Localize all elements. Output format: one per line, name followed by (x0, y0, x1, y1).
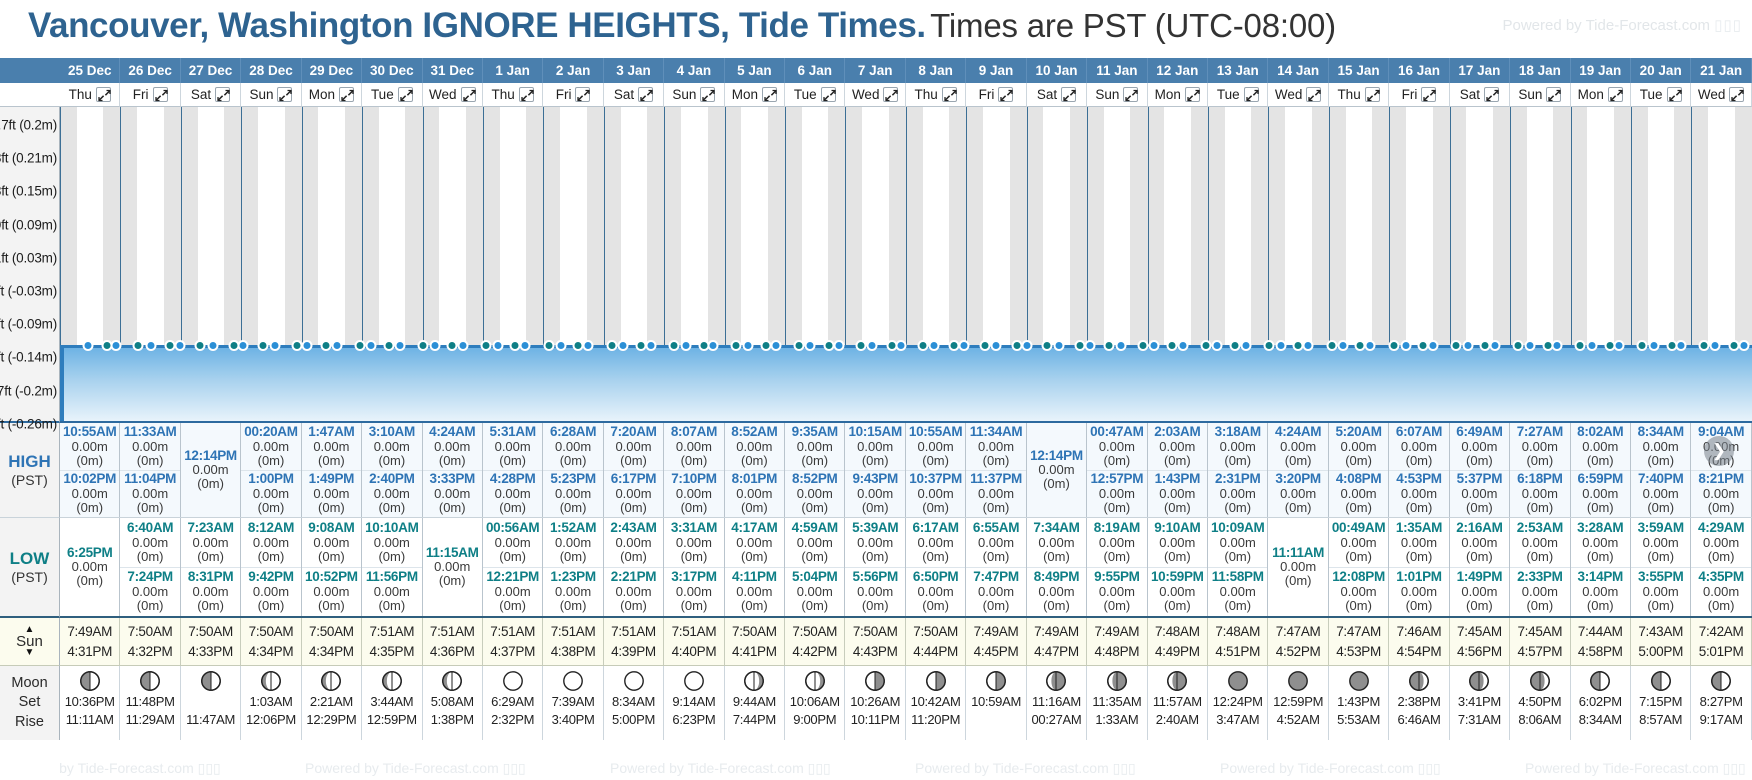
tide-event: 10:59PM0.00m(0m) (1148, 567, 1207, 617)
date-header-cell[interactable]: 12 Jan (1148, 58, 1208, 83)
expand-icon[interactable] (762, 87, 777, 102)
tide-height: 0.00m (1099, 440, 1135, 454)
tide-event: 5:31AM0.00m(0m) (483, 423, 542, 470)
low-tide-cell: 3:28AM0.00m(0m)3:14PM0.00m(0m) (1571, 518, 1631, 616)
tide-height-alt: (0m) (318, 501, 345, 515)
tide-event: 3:31AM0.00m(0m) (664, 518, 723, 567)
moonrise-time: 4:52AM (1277, 711, 1320, 729)
low-tide-cell: 1:52AM0.00m(0m)1:23PM0.00m(0m) (543, 518, 603, 616)
high-tide-marker (929, 340, 940, 351)
tide-height: 0.00m (1401, 536, 1437, 550)
low-tide-cell: 9:08AM0.00m(0m)10:52PM0.00m(0m) (302, 518, 362, 616)
chart-y-axis: 0.7ft (0.2m)0.68ft (0.21m)0.48ft (0.15m)… (0, 107, 60, 423)
tide-event: 4:24AM0.00m(0m) (423, 423, 482, 470)
tide-event: 9:43PM0.00m(0m) (845, 470, 904, 518)
expand-icon[interactable] (1608, 87, 1623, 102)
date-header-cell[interactable]: 1 Jan (483, 58, 543, 83)
date-header-cell[interactable]: 28 Dec (241, 58, 301, 83)
high-tide-marker (1338, 340, 1349, 351)
high-tide-marker (207, 340, 218, 351)
weekday-header-cell: Wed (845, 83, 905, 107)
moon-phase-icon (260, 670, 282, 692)
tide-time: 8:52PM (792, 472, 837, 487)
sun-cell: 7:50AM4:33PM (181, 618, 241, 665)
tide-time: 8:01PM (732, 472, 777, 487)
moon-phase-icon (200, 670, 222, 692)
sun-cell: 7:43AM5:00PM (1631, 618, 1691, 665)
row-label-column: 0.7ft (0.2m)0.68ft (0.21m)0.48ft (0.15m)… (0, 58, 60, 780)
high-tide-marker (991, 340, 1002, 351)
high-tide-cell: 11:33AM0.00m(0m)11:04PM0.00m(0m) (120, 423, 180, 517)
low-tide-marker (573, 340, 584, 351)
sun-cell: 7:42AM5:01PM (1691, 618, 1751, 665)
tide-time: 6:17AM (913, 521, 959, 536)
date-header-cell[interactable]: 15 Jan (1329, 58, 1389, 83)
low-tide-cell: 7:23AM0.00m(0m)8:31PM0.00m(0m) (181, 518, 241, 616)
date-header-cell[interactable]: 10 Jan (1027, 58, 1087, 83)
date-header-cell[interactable]: 13 Jan (1208, 58, 1268, 83)
sunset-time: 4:42PM (792, 642, 837, 662)
tide-height-alt: (0m) (137, 599, 164, 613)
tide-height-alt: (0m) (258, 550, 285, 564)
low-tide-cell: 2:53AM0.00m(0m)2:33PM0.00m(0m) (1510, 518, 1570, 616)
expand-icon[interactable] (883, 87, 898, 102)
moonrise-time: 1:33AM (1095, 711, 1138, 729)
tide-time: 9:10AM (1154, 521, 1200, 536)
high-tide-cell: 9:35AM0.00m(0m)8:52PM0.00m(0m) (785, 423, 845, 517)
tide-event: 1:47AM0.00m(0m) (302, 423, 361, 470)
low-tide-cell: 10:09AM0.00m(0m)11:58PM0.00m(0m) (1208, 518, 1268, 616)
tide-height-alt: (0m) (1526, 454, 1553, 468)
high-tide-marker (1614, 340, 1625, 351)
date-header-cell[interactable]: 31 Dec (423, 58, 483, 83)
tide-height: 0.00m (978, 585, 1014, 599)
tide-height-alt: (0m) (1345, 550, 1372, 564)
row-label-high-tz: (PST) (11, 472, 48, 488)
tide-height-alt: (0m) (1104, 454, 1131, 468)
moonrise-time: 3:40PM (552, 711, 595, 729)
tide-height: 0.00m (495, 487, 531, 501)
tide-time: 00:20AM (244, 425, 297, 440)
tide-time: 4:24AM (429, 425, 475, 440)
expand-icon[interactable] (1667, 87, 1682, 102)
low-tide-marker (1513, 340, 1524, 351)
low-tide-cell: 4:17AM0.00m(0m)4:11PM0.00m(0m) (725, 518, 785, 616)
weekday-label: Thu (1337, 87, 1360, 102)
tide-height: 0.00m (1522, 487, 1558, 501)
low-tide-marker (418, 340, 429, 351)
tide-time: 10:55AM (63, 425, 116, 440)
moon-phase-icon (804, 670, 826, 692)
tide-height-alt: (0m) (1164, 599, 1191, 613)
tide-event: 10:52PM0.00m(0m) (302, 567, 361, 617)
date-header-cell[interactable]: 5 Jan (725, 58, 785, 83)
low-tide-marker (1418, 340, 1429, 351)
tide-event: 9:08AM0.00m(0m) (302, 518, 361, 567)
moon-phase-icon (1045, 670, 1067, 692)
date-header-cell[interactable]: 30 Dec (362, 58, 422, 83)
tide-height-alt: (0m) (499, 501, 526, 515)
sunrise-time: 7:45AM (1457, 622, 1502, 642)
tide-height: 0.00m (132, 536, 168, 550)
tide-event: 6:17PM0.00m(0m) (604, 470, 663, 518)
low-tide-cell: 5:39AM0.00m(0m)5:56PM0.00m(0m) (845, 518, 905, 616)
high-tide-marker (1085, 340, 1096, 351)
tide-height-alt: (0m) (137, 454, 164, 468)
tide-time: 7:23AM (187, 521, 233, 536)
tide-height-alt: (0m) (439, 501, 466, 515)
tide-height: 0.00m (1461, 536, 1497, 550)
sunset-time: 4:37PM (490, 642, 535, 662)
sunrise-time: 7:48AM (1155, 622, 1200, 642)
y-axis-tick: 0.7ft (0.2m) (0, 118, 57, 133)
chart-left-edge (60, 345, 64, 421)
scroll-right-icon[interactable]: ❯ (1704, 436, 1734, 466)
date-header-cell[interactable]: 29 Dec (302, 58, 362, 83)
tide-event: 7:10PM0.00m(0m) (664, 470, 723, 518)
tide-event: 10:09AM0.00m(0m) (1208, 518, 1267, 567)
moonrise-time: 8:57AM (1639, 711, 1682, 729)
tide-event: 12:08PM0.00m(0m) (1329, 567, 1388, 617)
tide-height: 0.00m (918, 440, 954, 454)
date-header-cell[interactable]: 3 Jan (604, 58, 664, 83)
expand-icon[interactable] (942, 87, 957, 102)
tide-height: 0.00m (1099, 585, 1135, 599)
tide-height-alt: (0m) (197, 599, 224, 613)
tide-event: 9:42PM0.00m(0m) (241, 567, 300, 617)
expand-icon[interactable] (575, 87, 590, 102)
tide-height-alt: (0m) (439, 454, 466, 468)
low-tide-cell: 2:43AM0.00m(0m)2:21PM0.00m(0m) (604, 518, 664, 616)
tide-height-alt: (0m) (741, 550, 768, 564)
tide-time: 11:11AM (1272, 546, 1324, 561)
tide-time: 8:21PM (1698, 472, 1743, 487)
low-tide-marker (1480, 340, 1491, 351)
moonrise-time: 11:47AM (186, 711, 235, 729)
tide-height: 0.00m (1341, 487, 1377, 501)
tide-event: 1:01PM0.00m(0m) (1389, 567, 1448, 617)
weekday-header-cell: Sat (1450, 83, 1510, 107)
date-header-cell[interactable]: 2 Jan (543, 58, 603, 83)
high-tide-marker (833, 340, 844, 351)
high-tide-marker (332, 340, 343, 351)
tide-height: 0.00m (555, 487, 591, 501)
tide-event: 12:21PM0.00m(0m) (483, 567, 542, 617)
date-header-cell[interactable]: 19 Jan (1571, 58, 1631, 83)
high-tide-marker (742, 340, 753, 351)
moonset-time: 10:36PM (65, 693, 115, 711)
weekday-label: Sun (1095, 87, 1119, 102)
weekday-label: Sat (1460, 87, 1480, 102)
weekday-label: Sun (249, 87, 273, 102)
tide-height: 0.00m (1703, 487, 1739, 501)
tide-height-alt: (0m) (983, 501, 1010, 515)
low-tide-cell: 8:19AM0.00m(0m)9:55PM0.00m(0m) (1087, 518, 1147, 616)
expand-icon[interactable] (153, 87, 168, 102)
tide-height-alt: (0m) (1526, 501, 1553, 515)
weekday-label: Tue (794, 87, 817, 102)
tide-event: 8:07AM0.00m(0m) (664, 423, 723, 470)
expand-icon[interactable] (1484, 87, 1499, 102)
high-tide-marker (618, 340, 629, 351)
tide-event: 10:55AM0.00m(0m) (906, 423, 965, 470)
tide-height-alt: (0m) (197, 550, 224, 564)
high-tide-marker (1365, 340, 1376, 351)
high-tide-cell: 5:31AM0.00m(0m)4:28PM0.00m(0m) (483, 423, 543, 517)
tide-event: 12:57PM0.00m(0m) (1087, 470, 1146, 518)
moonset-time: 10:59AM (971, 693, 1021, 711)
tide-height: 0.00m (978, 536, 1014, 550)
tide-event: 2:31PM0.00m(0m) (1208, 470, 1267, 518)
expand-icon[interactable] (638, 87, 653, 102)
expand-icon[interactable] (1546, 87, 1561, 102)
tide-height-alt: (0m) (1104, 550, 1131, 564)
tide-height: 0.00m (857, 536, 893, 550)
tide-height: 0.00m (192, 463, 228, 477)
moonrise-time: 2:32PM (491, 711, 534, 729)
expand-icon[interactable] (1421, 87, 1436, 102)
date-header-cell[interactable]: 11 Jan (1087, 58, 1147, 83)
row-label-high: HIGH (PST) (0, 423, 60, 518)
tide-height: 0.00m (1220, 585, 1256, 599)
high-tide-cell: 6:07AM0.00m(0m)4:53PM0.00m(0m) (1389, 423, 1449, 517)
tide-event: 6:59PM0.00m(0m) (1571, 470, 1630, 518)
high-tide-marker (395, 340, 406, 351)
high-tide-cell: 00:47AM0.00m(0m)12:57PM0.00m(0m) (1087, 423, 1147, 517)
sun-cell: 7:49AM4:47PM (1027, 618, 1087, 665)
tide-event: 2:33PM0.00m(0m) (1510, 567, 1569, 617)
high-tide-marker (867, 340, 878, 351)
tide-height: 0.00m (1099, 536, 1135, 550)
tide-event: 7:47PM0.00m(0m) (966, 567, 1025, 617)
expand-icon[interactable] (215, 87, 230, 102)
expand-icon[interactable] (339, 87, 354, 102)
low-tide-marker (886, 340, 897, 351)
water-fill (60, 347, 1752, 421)
sunrise-time: 7:48AM (1215, 622, 1260, 642)
tide-height-alt: (0m) (1466, 550, 1493, 564)
tide-event: 3:59AM0.00m(0m) (1631, 518, 1690, 567)
tide-time: 9:35AM (792, 425, 838, 440)
tide-time: 2:16AM (1456, 521, 1502, 536)
high-tide-marker (1115, 340, 1126, 351)
date-header-cell[interactable]: 25 Dec (60, 58, 120, 83)
low-tide-marker (1292, 340, 1303, 351)
sunrise-time: 7:42AM (1699, 622, 1744, 642)
tide-height-alt: (0m) (1406, 550, 1433, 564)
tide-height: 0.00m (797, 536, 833, 550)
expand-icon[interactable] (398, 87, 413, 102)
tide-event: 10:55AM0.00m(0m) (60, 423, 119, 470)
tide-height: 0.00m (72, 440, 108, 454)
expand-icon[interactable] (1123, 87, 1138, 102)
date-header-cell[interactable]: 8 Jan (906, 58, 966, 83)
weekday-header-row: ThuFriSatSunMonTueWedThuFriSatSunMonTueW… (60, 83, 1752, 107)
moonrise-time: 11:29AM (126, 711, 175, 729)
moon-cell: 10:26AM10:11PM (845, 666, 905, 740)
high-tide-cell: 4:24AM0.00m(0m)3:33PM0.00m(0m) (423, 423, 483, 517)
moon-cell: 2:21AM12:29PM (302, 666, 362, 740)
tide-time: 2:31PM (1215, 472, 1260, 487)
tide-height: 0.00m (736, 487, 772, 501)
expand-icon[interactable] (998, 87, 1013, 102)
tide-time: 10:55AM (909, 425, 962, 440)
weekday-label: Thu (914, 87, 937, 102)
moon-phase-icon (623, 670, 645, 692)
tide-event: 8:01PM0.00m(0m) (725, 470, 784, 518)
tide-height: 0.00m (1401, 440, 1437, 454)
date-header-cell[interactable]: 6 Jan (785, 58, 845, 83)
date-header-cell[interactable]: 21 Jan (1691, 58, 1751, 83)
low-tide-cell: 6:55AM0.00m(0m)7:47PM0.00m(0m) (966, 518, 1026, 616)
date-header-cell[interactable]: 20 Jan (1631, 58, 1691, 83)
date-header-cell[interactable]: 9 Jan (966, 58, 1026, 83)
tide-height: 0.00m (1461, 585, 1497, 599)
high-tide-marker (1648, 340, 1659, 351)
expand-icon[interactable] (821, 87, 836, 102)
expand-icon[interactable] (1061, 87, 1076, 102)
moon-phase-icon (864, 670, 886, 692)
sun-cell: 7:51AM4:37PM (483, 618, 543, 665)
high-tide-marker (1021, 340, 1032, 351)
sunrise-time: 7:50AM (309, 622, 354, 642)
high-tide-row: 10:55AM0.00m(0m)10:02PM0.00m(0m)11:33AM0… (60, 423, 1752, 518)
tide-height-alt: (0m) (620, 599, 647, 613)
moon-cell: 9:44AM7:44PM (725, 666, 785, 740)
tide-height-alt: (0m) (681, 501, 708, 515)
sunrise-time: 7:45AM (1517, 622, 1562, 642)
tide-event: 8:12AM0.00m(0m) (241, 518, 300, 567)
tide-height-alt: (0m) (560, 550, 587, 564)
low-tide-marker (698, 340, 709, 351)
moon-row: 10:36PM11:11AM11:48PM11:29AM 11:47AM1:03… (60, 666, 1752, 740)
tide-time: 8:49PM (1034, 570, 1079, 585)
sunset-time: 4:56PM (1457, 642, 1502, 662)
moonset-time: 5:08AM (431, 693, 474, 711)
tide-height-alt: (0m) (741, 501, 768, 515)
low-tide-marker (855, 340, 866, 351)
tide-event: 4:11PM0.00m(0m) (725, 567, 784, 617)
moonset-time: 4:50PM (1518, 693, 1561, 711)
date-header-cell[interactable]: 16 Jan (1389, 58, 1449, 83)
expand-icon[interactable] (1729, 87, 1744, 102)
moonset-time: 8:27PM (1700, 693, 1743, 711)
y-axis-tick: -0.09ft (-0.03m) (0, 284, 57, 299)
tide-height: 0.00m (615, 585, 651, 599)
sunrise-time: 7:47AM (1276, 622, 1321, 642)
sunrise-time: 7:51AM (490, 622, 535, 642)
expand-icon[interactable] (1365, 87, 1380, 102)
tide-time: 5:37PM (1457, 472, 1502, 487)
tide-time: 11:58PM (1212, 570, 1264, 585)
tide-height-alt: (0m) (922, 501, 949, 515)
tide-height-alt: (0m) (1406, 501, 1433, 515)
sunset-time: 4:40PM (672, 642, 717, 662)
tide-height-alt: (0m) (1708, 550, 1735, 564)
tide-height: 0.00m (857, 585, 893, 599)
tide-time: 9:08AM (308, 521, 354, 536)
low-tide-cell: 8:12AM0.00m(0m)9:42PM0.00m(0m) (241, 518, 301, 616)
tide-event: 10:37PM0.00m(0m) (906, 470, 965, 518)
tide-height-alt: (0m) (258, 501, 285, 515)
expand-icon[interactable] (519, 87, 534, 102)
expand-icon[interactable] (277, 87, 292, 102)
sunset-time: 4:39PM (611, 642, 656, 662)
high-tide-marker (145, 340, 156, 351)
tide-height: 0.00m (1582, 440, 1618, 454)
moonrise-time: 8:06AM (1518, 711, 1561, 729)
high-tide-marker (1738, 340, 1749, 351)
tide-height: 0.00m (1643, 536, 1679, 550)
low-tide-marker (1201, 340, 1212, 351)
expand-icon[interactable] (700, 87, 715, 102)
tide-time: 6:49AM (1456, 425, 1502, 440)
date-header-cell[interactable]: 14 Jan (1268, 58, 1328, 83)
tide-height-alt: (0m) (801, 454, 828, 468)
high-tide-marker (1275, 340, 1286, 351)
low-tide-marker (195, 340, 206, 351)
moonrise-time: 5:00PM (612, 711, 655, 729)
low-tide-marker (731, 340, 742, 351)
high-tide-cell: 3:18AM0.00m(0m)2:31PM0.00m(0m) (1208, 423, 1268, 517)
tide-time: 8:07AM (671, 425, 717, 440)
tide-height-alt: (0m) (1708, 599, 1735, 613)
axis-header-spacer-date (0, 58, 60, 83)
moonset-time: 6:02PM (1579, 693, 1622, 711)
high-tide-marker (1524, 340, 1535, 351)
expand-icon[interactable] (1306, 87, 1321, 102)
tide-height: 0.00m (1522, 536, 1558, 550)
low-tide-marker (761, 340, 772, 351)
moonrise-time: 9:00PM (793, 711, 836, 729)
low-tide-marker (606, 340, 617, 351)
sun-cell: 7:45AM4:57PM (1510, 618, 1570, 665)
expand-icon[interactable] (1185, 87, 1200, 102)
low-tide-marker (1166, 340, 1177, 351)
date-header-cell[interactable]: 18 Jan (1510, 58, 1570, 83)
tide-height: 0.00m (1522, 440, 1558, 454)
tide-height-alt: (0m) (1587, 550, 1614, 564)
tide-time: 6:55AM (973, 521, 1019, 536)
date-header-cell[interactable]: 4 Jan (664, 58, 724, 83)
high-tide-cell: 3:10AM0.00m(0m)2:40PM0.00m(0m) (362, 423, 422, 517)
tide-event: 6:55AM0.00m(0m) (966, 518, 1025, 567)
tide-height: 0.00m (555, 536, 591, 550)
moonset-time: 1:03AM (249, 693, 292, 711)
tide-time: 4:08PM (1336, 472, 1381, 487)
sunset-time: 4:44PM (913, 642, 958, 662)
tide-time: 10:02PM (63, 472, 116, 487)
expand-icon[interactable] (461, 87, 476, 102)
date-header-cell[interactable]: 26 Dec (120, 58, 180, 83)
expand-icon[interactable] (96, 87, 111, 102)
tide-time: 11:37PM (970, 472, 1022, 487)
moonrise-time: 10:11PM (851, 711, 900, 729)
tide-height: 0.00m (978, 487, 1014, 501)
date-header-cell[interactable]: 17 Jan (1450, 58, 1510, 83)
moon-phase-icon (1710, 670, 1732, 692)
tide-height-alt: (0m) (499, 550, 526, 564)
high-tide-marker (429, 340, 440, 351)
high-tide-cell: 5:20AM0.00m(0m)4:08PM0.00m(0m) (1329, 423, 1389, 517)
expand-icon[interactable] (1244, 87, 1259, 102)
date-header-cell[interactable]: 7 Jan (845, 58, 905, 83)
tide-height: 0.00m (918, 585, 954, 599)
date-header-cell[interactable]: 27 Dec (181, 58, 241, 83)
tide-time: 3:17PM (671, 570, 716, 585)
low-tide-marker (1326, 340, 1337, 351)
high-tide-cell: 10:55AM0.00m(0m)10:02PM0.00m(0m) (60, 423, 120, 517)
